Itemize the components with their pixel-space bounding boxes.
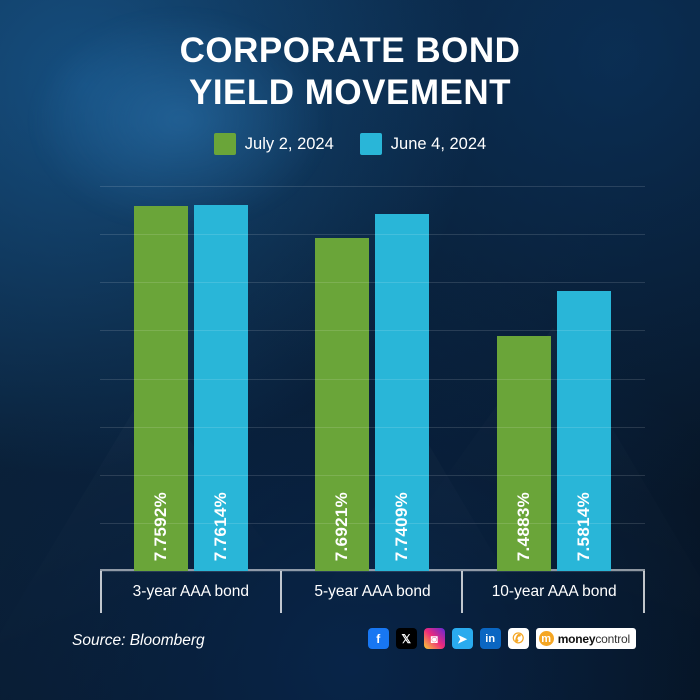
- category-axis: 3-year AAA bond5-year AAA bond10-year AA…: [100, 575, 645, 609]
- gridline: [100, 282, 645, 283]
- bar-value-label: 7.5814%: [574, 492, 594, 561]
- legend-label-series-1: July 2, 2024: [245, 135, 334, 154]
- chart-title-line-2: Yield Movement: [0, 72, 700, 114]
- moneycontrol-wordmark-light: control: [595, 632, 630, 646]
- infographic-root: Corporate Bond Yield Movement July 2, 20…: [0, 0, 700, 700]
- chart-title-line-1: Corporate Bond: [180, 31, 521, 70]
- moneycontrol-wordmark-bold: money: [558, 632, 596, 646]
- gridline: [100, 186, 645, 187]
- facebook-icon[interactable]: f: [368, 628, 389, 649]
- whatsapp-icon[interactable]: ✆: [508, 628, 529, 649]
- bar-value-label: 7.7614%: [211, 492, 231, 561]
- bar[interactable]: 7.4883%: [497, 336, 551, 571]
- gridline: [100, 475, 645, 476]
- legend-item-series-1: July 2, 2024: [214, 133, 334, 155]
- category-label: 3-year AAA bond: [100, 575, 282, 609]
- category-label: 5-year AAA bond: [282, 575, 464, 609]
- bar[interactable]: 7.5814%: [557, 291, 611, 571]
- gridline: [100, 427, 645, 428]
- bar-value-label: 7.6921%: [332, 492, 352, 561]
- moneycontrol-mark-icon: m: [539, 631, 554, 646]
- category-label: 10-year AAA bond: [463, 575, 645, 609]
- legend-item-series-2: June 4, 2024: [360, 133, 486, 155]
- bar[interactable]: 7.7592%: [134, 206, 188, 571]
- moneycontrol-logo[interactable]: m moneycontrol: [536, 628, 636, 649]
- bar-value-label: 7.7592%: [151, 492, 171, 561]
- bar[interactable]: 7.7614%: [194, 205, 248, 571]
- social-bar: f 𝕏 ◙ ➤ in ✆ m moneycontrol: [368, 628, 636, 649]
- legend-label-series-2: June 4, 2024: [391, 135, 486, 154]
- plot-area: 7.7592%7.7614%7.6921%7.7409%7.4883%7.581…: [100, 186, 645, 571]
- gridline: [100, 330, 645, 331]
- instagram-icon[interactable]: ◙: [424, 628, 445, 649]
- legend-swatch-series-2: [360, 133, 382, 155]
- chart-legend: July 2, 2024 June 4, 2024: [0, 133, 700, 155]
- bar[interactable]: 7.6921%: [315, 238, 369, 571]
- gridline: [100, 379, 645, 380]
- gridline: [100, 234, 645, 235]
- linkedin-icon[interactable]: in: [480, 628, 501, 649]
- moneycontrol-wordmark: moneycontrol: [558, 632, 630, 646]
- source-note: Source: Bloomberg: [72, 632, 205, 650]
- gridline: [100, 571, 645, 572]
- gridline: [100, 523, 645, 524]
- bar-value-label: 7.4883%: [514, 492, 534, 561]
- telegram-icon[interactable]: ➤: [452, 628, 473, 649]
- chart-title: Corporate Bond Yield Movement: [0, 30, 700, 114]
- legend-swatch-series-1: [214, 133, 236, 155]
- bar[interactable]: 7.7409%: [375, 214, 429, 571]
- x-twitter-icon[interactable]: 𝕏: [396, 628, 417, 649]
- chart-canvas: 7.7592%7.7614%7.6921%7.7409%7.4883%7.581…: [0, 170, 700, 600]
- bar-value-label: 7.7409%: [392, 492, 412, 561]
